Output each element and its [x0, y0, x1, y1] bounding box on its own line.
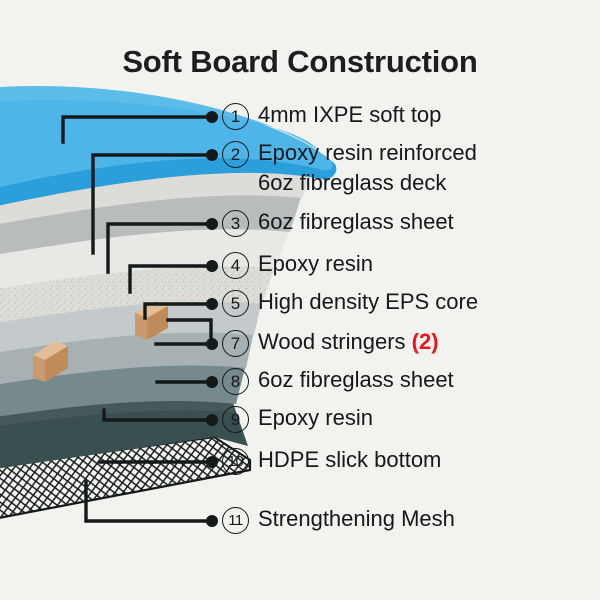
legend-label-4: Epoxy resin	[258, 250, 373, 278]
legend-item-7[interactable]: 7 Wood stringers (2)	[222, 330, 439, 357]
legend-label-3: 6oz fibreglass sheet	[258, 208, 454, 236]
legend-number-5: 5	[222, 290, 249, 317]
legend-label-2-continuation: 6oz fibreglass deck	[258, 169, 446, 197]
legend-item-9[interactable]: 9 Epoxy resin	[222, 406, 373, 433]
legend-number-2: 2	[222, 141, 249, 168]
legend-number-4: 4	[222, 252, 249, 279]
legend-label-2: Epoxy resin reinforced	[258, 139, 477, 167]
legend-number-7: 7	[222, 330, 249, 357]
legend-label-9: Epoxy resin	[258, 404, 373, 432]
legend-label-8: 6oz fibreglass sheet	[258, 366, 454, 394]
diagram-page: Soft Board Construction	[0, 0, 600, 600]
legend-number-3: 3	[222, 210, 249, 237]
legend-item-3[interactable]: 3 6oz fibreglass sheet	[222, 210, 454, 237]
legend-item-11[interactable]: 11 Strengthening Mesh	[222, 507, 455, 534]
legend-item-4[interactable]: 4 Epoxy resin	[222, 252, 373, 279]
legend-number-10: 10	[222, 448, 249, 475]
legend-item-2[interactable]: 2 Epoxy resin reinforced	[222, 141, 477, 168]
legend-label-5: High density EPS core	[258, 288, 478, 316]
legend-label-1: 4mm IXPE soft top	[258, 101, 441, 129]
legend-number-1: 1	[222, 103, 249, 130]
legend-label-7: Wood stringers (2)	[258, 328, 439, 356]
legend-label-11: Strengthening Mesh	[258, 505, 455, 533]
wood-stringer-count: (2)	[412, 329, 439, 354]
legend-number-8: 8	[222, 368, 249, 395]
legend-label-10: HDPE slick bottom	[258, 446, 441, 474]
legend-number-9: 9	[222, 406, 249, 433]
legend-item-1[interactable]: 1 4mm IXPE soft top	[222, 103, 441, 130]
legend-item-10[interactable]: 10 HDPE slick bottom	[222, 448, 441, 475]
legend-number-11: 11	[222, 507, 249, 534]
legend-item-5[interactable]: 5 High density EPS core	[222, 290, 478, 317]
legend-item-8[interactable]: 8 6oz fibreglass sheet	[222, 368, 454, 395]
